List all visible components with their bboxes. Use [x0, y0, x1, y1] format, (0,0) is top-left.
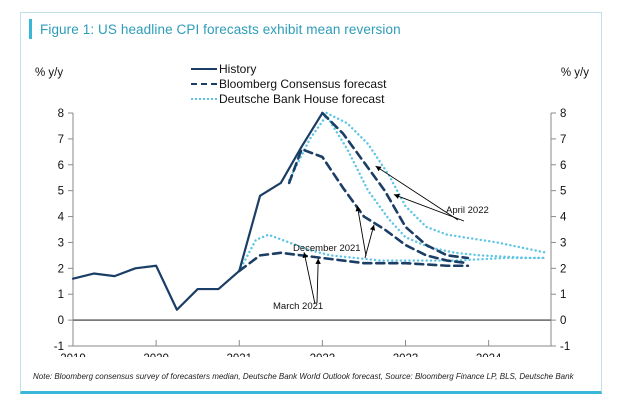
annotation-arrow-layer: [304, 166, 464, 304]
svg-text:3: 3: [560, 237, 566, 249]
svg-text:3: 3: [58, 237, 64, 249]
figure-title-row: Figure 1: US headline CPI forecasts exhi…: [21, 13, 601, 45]
svg-text:6: 6: [58, 160, 64, 172]
svg-text:0: 0: [58, 315, 64, 327]
chart-plot-area: % y/y % y/y History Bloomberg Consensus …: [21, 45, 603, 357]
figure-container: Figure 1: US headline CPI forecasts exhi…: [20, 12, 602, 394]
svg-text:6: 6: [560, 160, 566, 172]
annotation-april-2022: April 2022: [446, 205, 489, 216]
svg-text:4: 4: [560, 212, 567, 224]
svg-text:2024: 2024: [476, 353, 502, 357]
svg-text:2021: 2021: [226, 353, 252, 357]
annotation-march-2021: March 2021: [273, 301, 323, 312]
note-text: Note: Bloomberg consensus survey of fore…: [33, 372, 589, 383]
svg-text:1: 1: [560, 289, 566, 301]
svg-text:0: 0: [560, 315, 566, 327]
svg-text:2: 2: [560, 263, 566, 275]
svg-text:2: 2: [58, 263, 64, 275]
svg-text:-1: -1: [54, 341, 64, 353]
svg-text:5: 5: [560, 186, 566, 198]
series-line-history: [73, 113, 322, 310]
svg-text:-1: -1: [560, 341, 570, 353]
svg-text:7: 7: [560, 134, 566, 146]
axis-layer: 876543210-1876543210-1201920202021202220…: [54, 108, 570, 357]
series-line-bloomberg-april-2022: [322, 113, 467, 258]
svg-text:4: 4: [58, 212, 65, 224]
annotation-december-2021: December 2021: [293, 243, 361, 254]
title-accent-bar: [29, 19, 32, 39]
svg-text:1: 1: [58, 289, 64, 301]
svg-text:2023: 2023: [393, 353, 419, 357]
svg-text:2022: 2022: [310, 353, 336, 357]
series-line-bloomberg-march-2021: [239, 253, 468, 271]
svg-text:2020: 2020: [143, 353, 169, 357]
page-title: Figure 1: US headline CPI forecasts exhi…: [40, 22, 401, 37]
svg-text:8: 8: [560, 108, 566, 120]
figure-note: Note: Bloomberg consensus survey of fore…: [21, 366, 601, 391]
svg-text:5: 5: [58, 186, 64, 198]
svg-text:7: 7: [58, 134, 64, 146]
svg-text:2019: 2019: [60, 353, 86, 357]
series-line-deutsche-april-2022: [327, 113, 547, 253]
svg-text:8: 8: [58, 108, 64, 120]
